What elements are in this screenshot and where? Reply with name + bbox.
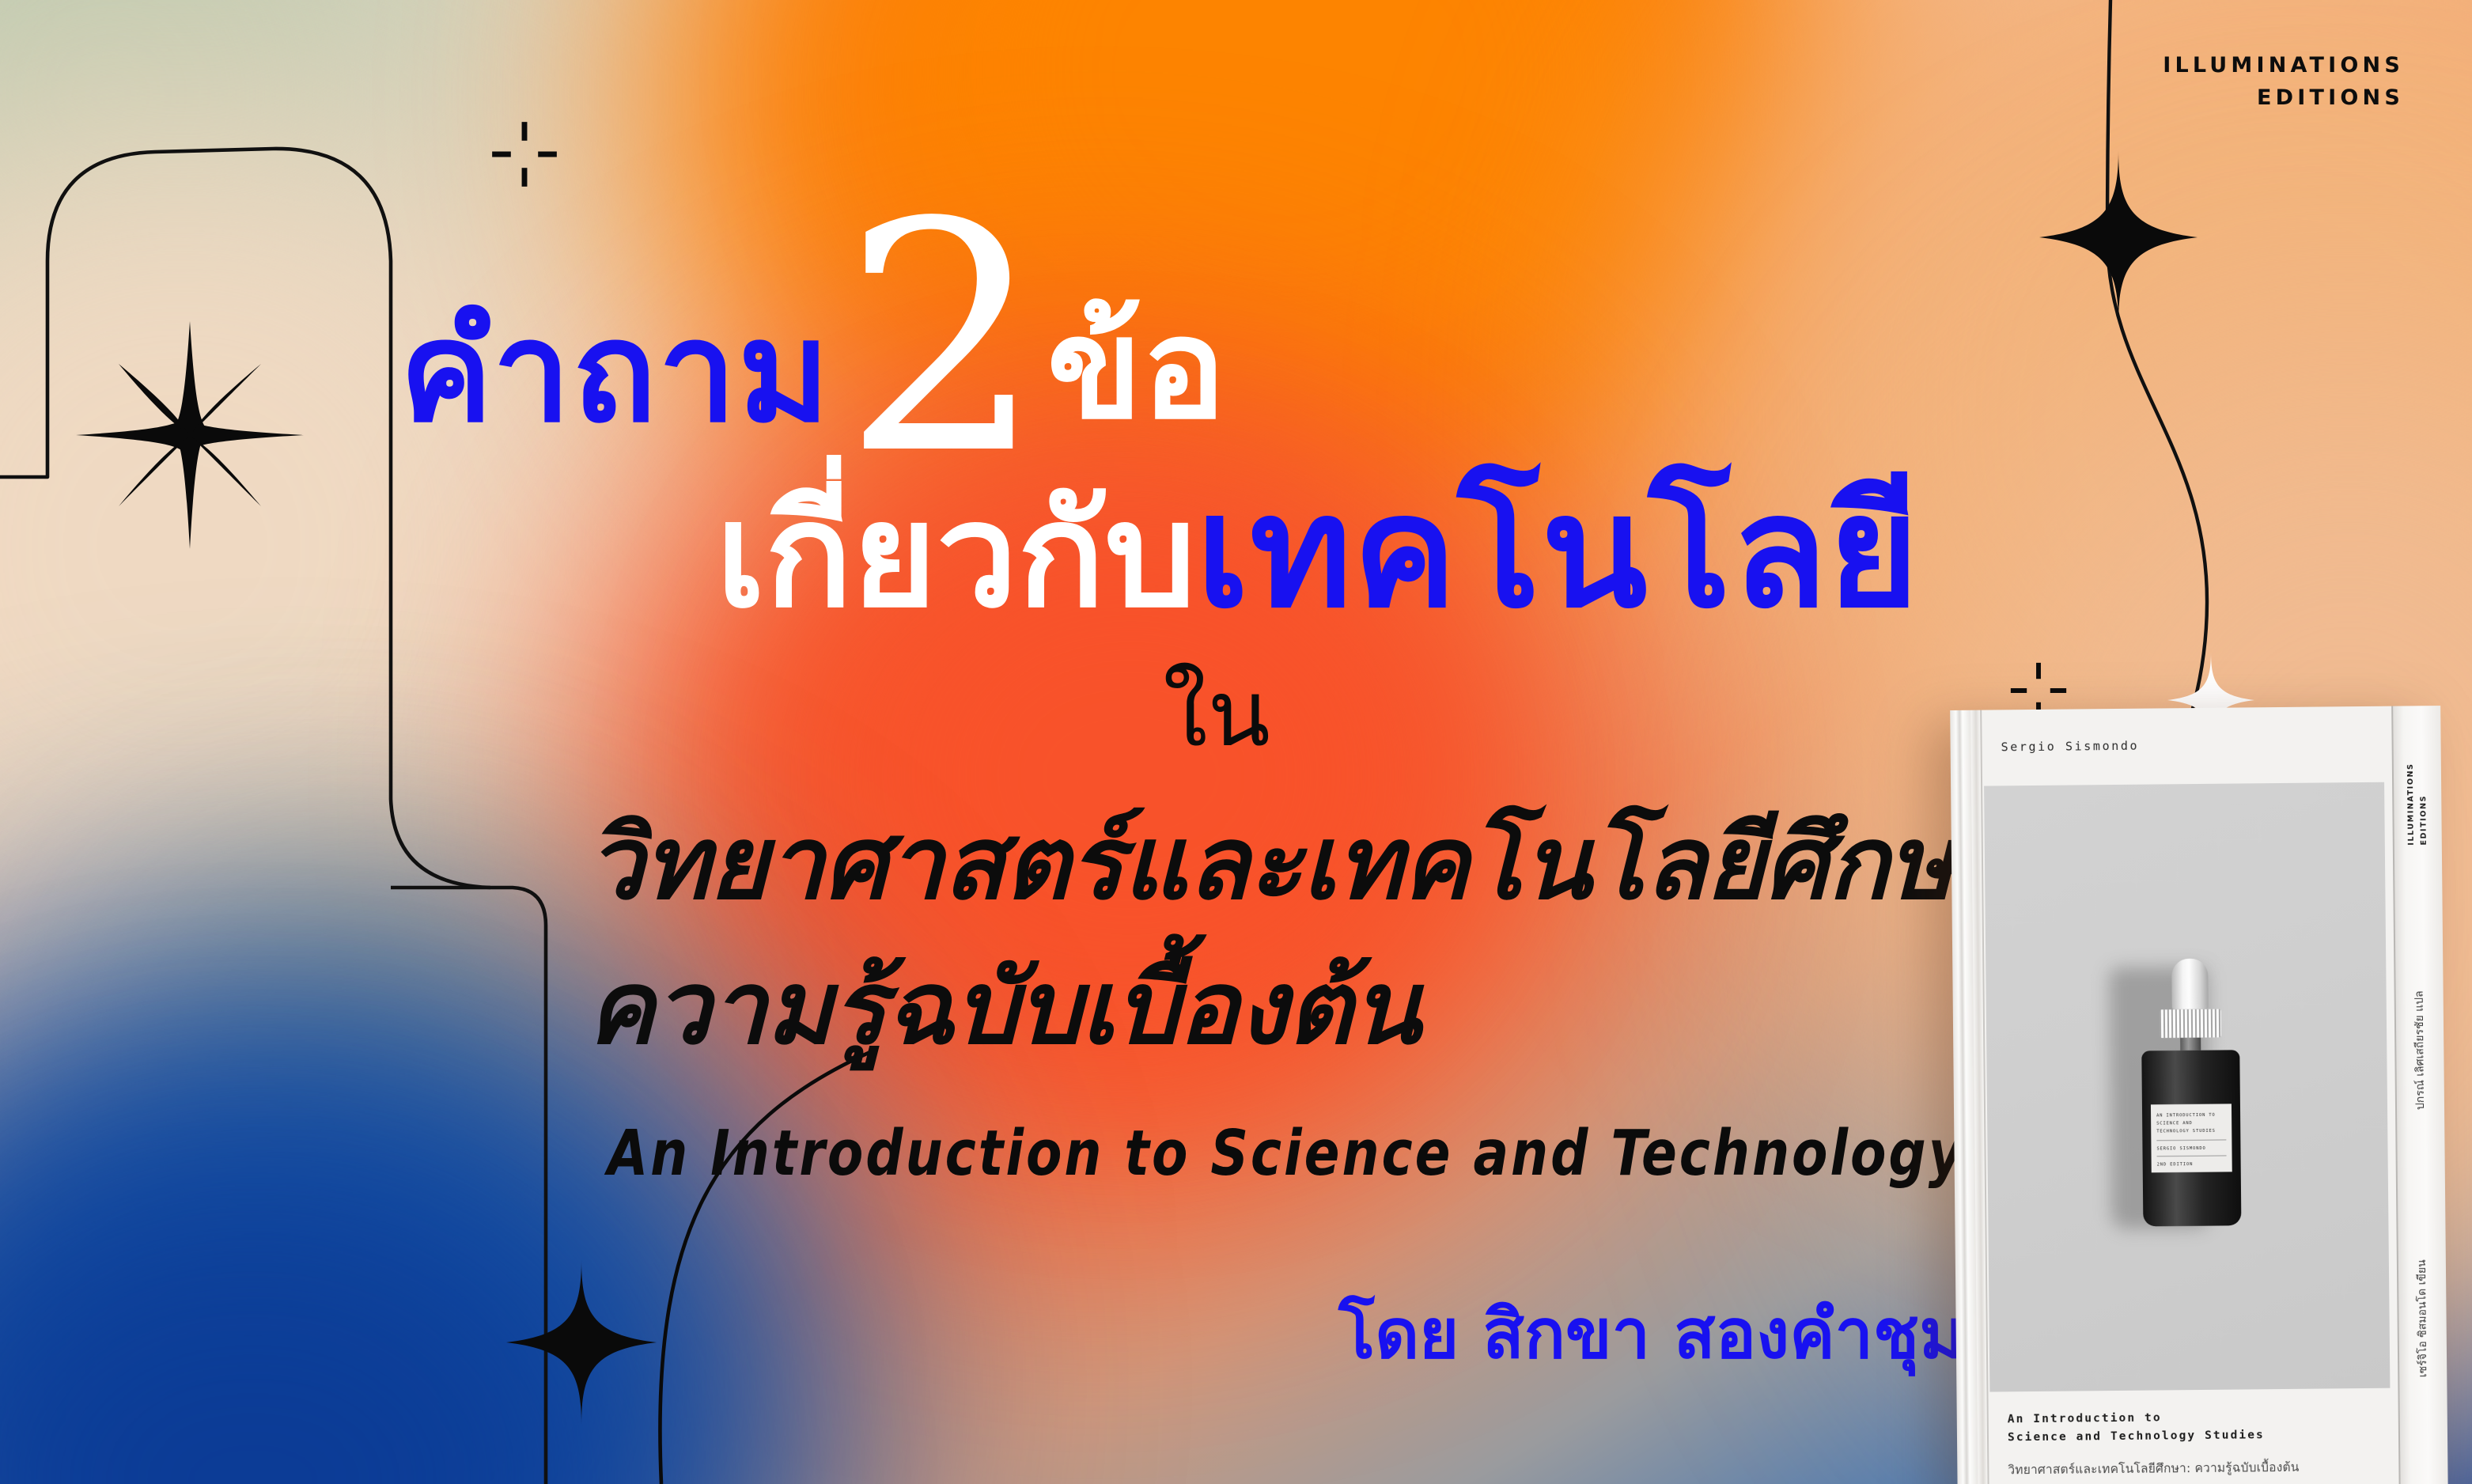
bottle-label-author: SERGIO SISMONDO [2156,1140,2226,1157]
book-front-cover: Sergio Sismondo AN INTRODUCTION TO SCIEN… [1980,706,2399,1484]
book-spine-brand: ILLUMINATIONS EDITIONS [2405,763,2431,846]
headline-question-word: คำถาม [399,303,831,442]
book-cover-title-en: An Introduction to Science and Technolog… [2008,1407,2398,1448]
serum-bottle-illustration: AN INTRODUCTION TO SCIENCE AND TECHNOLOG… [2141,958,2241,1226]
headline-item-word: ข้อ [1047,300,1225,439]
book-cover-title-th: วิทยาศาสตร์และเทคโนโลยีศึกษา: ความรู้ฉบั… [2008,1456,2398,1480]
book-spine: ILLUMINATIONS EDITIONS ปกรณ์ เลิศเสถียรช… [2391,706,2448,1484]
book-cover-author: Sergio Sismondo [1982,706,2392,786]
headline-about-word: เกี่ยวกับ [716,483,1196,627]
book-spine-brand-line-2: EDITIONS [2417,763,2431,845]
book-cover-photo: AN INTRODUCTION TO SCIENCE AND TECHNOLOG… [1984,782,2390,1392]
bottle-label: AN INTRODUCTION TO SCIENCE AND TECHNOLOG… [2151,1104,2232,1172]
book-spine-brand-line-1: ILLUMINATIONS [2405,763,2418,845]
bottle-label-title: AN INTRODUCTION TO SCIENCE AND TECHNOLOG… [2156,1111,2226,1141]
bottle-body: AN INTRODUCTION TO SCIENCE AND TECHNOLOG… [2141,1050,2241,1226]
headline-count: 2 [842,217,1044,464]
bottle-collar [2160,1009,2221,1038]
book-spine-translator: ปกรณ์ เลิศเสถียรชัย แปล [2411,990,2429,1110]
headline-line-1: คำถาม 2 ข้อ [399,188,1225,442]
headline-in-word: ใน [1163,668,1270,760]
headline-line-2: เกี่ยวกับ เทคโนโลยี [716,475,1920,630]
headline-topic-word: เทคโนโลยี [1196,475,1920,630]
subtitle-thai-line-2: ความรู้ฉบับเบื้องต้น [587,936,2050,1081]
bottle-cap [2171,959,2209,1009]
brand-line-1: ILLUMINATIONS [2163,49,2404,81]
bottle-label-edition: 2ND EDITION [2157,1156,2227,1167]
book-cover-footer: An Introduction to Science and Technolog… [1988,1388,2398,1484]
promo-card-canvas: ILLUMINATIONS EDITIONS คำถาม 2 ข้อ เกี่ย… [0,0,2472,1484]
bottle-neck [2180,1038,2201,1051]
book-object: Sergio Sismondo AN INTRODUCTION TO SCIEN… [1950,706,2448,1484]
subtitle-thai-line-1: วิทยาศาสตร์และเทคโนโลยีศึกษา: [587,791,2050,936]
subtitle-thai: วิทยาศาสตร์และเทคโนโลยีศึกษา: ความรู้ฉบั… [587,791,2050,1081]
book-spine-writer: เซร์จิโอ ซิสมอนโด เขียน [2413,1259,2432,1377]
byline-credit: โดย สิกขา สองคำชุม [1338,1300,1964,1369]
brand-line-2: EDITIONS [2163,81,2404,114]
brand-logo: ILLUMINATIONS EDITIONS [2163,49,2404,114]
book-mockup: Sergio Sismondo AN INTRODUCTION TO SCIEN… [1950,706,2448,1484]
